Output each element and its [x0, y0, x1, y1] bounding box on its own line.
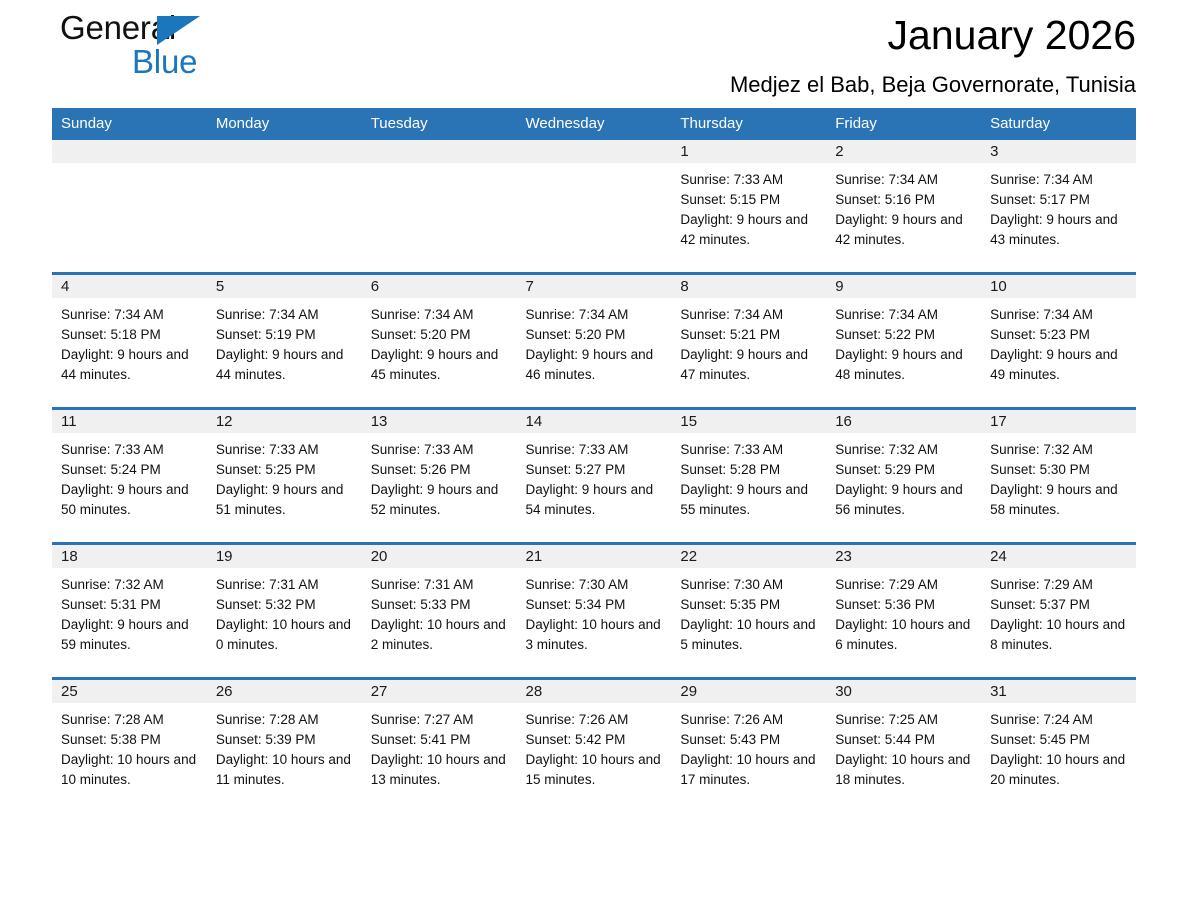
page-title: January 2026 [730, 8, 1136, 62]
sunrise-text: Sunrise: 7:34 AM [835, 305, 975, 325]
sunset-text: Sunset: 5:24 PM [61, 460, 201, 480]
day-number: 29 [671, 680, 826, 703]
sunrise-text: Sunrise: 7:28 AM [216, 710, 356, 730]
sunrise-text: Sunrise: 7:34 AM [990, 305, 1130, 325]
daylight-text: Daylight: 10 hours and 0 minutes. [216, 615, 356, 655]
day-details: Sunrise: 7:32 AMSunset: 5:29 PMDaylight:… [826, 433, 981, 520]
sunset-text: Sunset: 5:33 PM [371, 595, 511, 615]
calendar-day-cell[interactable]: 1Sunrise: 7:33 AMSunset: 5:15 PMDaylight… [671, 140, 826, 274]
weekday-header-sunday: Sunday [52, 108, 207, 140]
sunrise-text: Sunrise: 7:30 AM [526, 575, 666, 595]
sunset-text: Sunset: 5:39 PM [216, 730, 356, 750]
sunset-text: Sunset: 5:17 PM [990, 190, 1130, 210]
day-cell-inner: 6Sunrise: 7:34 AMSunset: 5:20 PMDaylight… [362, 275, 517, 407]
sunrise-text: Sunrise: 7:25 AM [835, 710, 975, 730]
sunset-text: Sunset: 5:20 PM [371, 325, 511, 345]
day-number: 4 [52, 275, 207, 298]
daylight-text: Daylight: 10 hours and 6 minutes. [835, 615, 975, 655]
calendar-day-cell[interactable]: 31Sunrise: 7:24 AMSunset: 5:45 PMDayligh… [981, 679, 1136, 813]
day-details: Sunrise: 7:31 AMSunset: 5:32 PMDaylight:… [207, 568, 362, 655]
day-cell-inner: 30Sunrise: 7:25 AMSunset: 5:44 PMDayligh… [826, 680, 981, 812]
sunrise-text: Sunrise: 7:34 AM [835, 170, 975, 190]
day-cell-inner: 19Sunrise: 7:31 AMSunset: 5:32 PMDayligh… [207, 545, 362, 677]
daylight-text: Daylight: 10 hours and 10 minutes. [61, 750, 201, 790]
day-details: Sunrise: 7:26 AMSunset: 5:42 PMDaylight:… [517, 703, 672, 790]
calendar-page: General Blue January 2026 Medjez el Bab,… [0, 0, 1188, 918]
day-number [362, 140, 517, 163]
calendar-day-cell[interactable]: 19Sunrise: 7:31 AMSunset: 5:32 PMDayligh… [207, 544, 362, 679]
day-number: 15 [671, 410, 826, 433]
day-cell-inner: 15Sunrise: 7:33 AMSunset: 5:28 PMDayligh… [671, 410, 826, 542]
day-cell-inner: 10Sunrise: 7:34 AMSunset: 5:23 PMDayligh… [981, 275, 1136, 407]
day-cell-inner: 26Sunrise: 7:28 AMSunset: 5:39 PMDayligh… [207, 680, 362, 812]
daylight-text: Daylight: 9 hours and 50 minutes. [61, 480, 201, 520]
day-cell-inner: 16Sunrise: 7:32 AMSunset: 5:29 PMDayligh… [826, 410, 981, 542]
daylight-text: Daylight: 10 hours and 2 minutes. [371, 615, 511, 655]
sunrise-text: Sunrise: 7:34 AM [680, 305, 820, 325]
day-details: Sunrise: 7:29 AMSunset: 5:36 PMDaylight:… [826, 568, 981, 655]
sunset-text: Sunset: 5:31 PM [61, 595, 201, 615]
day-number: 5 [207, 275, 362, 298]
calendar-day-cell[interactable]: 3Sunrise: 7:34 AMSunset: 5:17 PMDaylight… [981, 140, 1136, 274]
daylight-text: Daylight: 9 hours and 48 minutes. [835, 345, 975, 385]
calendar-week-row: 11Sunrise: 7:33 AMSunset: 5:24 PMDayligh… [52, 409, 1136, 544]
weekday-header-saturday: Saturday [981, 108, 1136, 140]
sunrise-text: Sunrise: 7:33 AM [216, 440, 356, 460]
day-cell-inner: 22Sunrise: 7:30 AMSunset: 5:35 PMDayligh… [671, 545, 826, 677]
sunset-text: Sunset: 5:26 PM [371, 460, 511, 480]
day-details: Sunrise: 7:34 AMSunset: 5:16 PMDaylight:… [826, 163, 981, 250]
day-details: Sunrise: 7:33 AMSunset: 5:27 PMDaylight:… [517, 433, 672, 520]
calendar-day-cell[interactable]: 23Sunrise: 7:29 AMSunset: 5:36 PMDayligh… [826, 544, 981, 679]
day-cell-inner: 9Sunrise: 7:34 AMSunset: 5:22 PMDaylight… [826, 275, 981, 407]
day-details: Sunrise: 7:34 AMSunset: 5:17 PMDaylight:… [981, 163, 1136, 250]
day-number: 7 [517, 275, 672, 298]
sunset-text: Sunset: 5:44 PM [835, 730, 975, 750]
daylight-text: Daylight: 10 hours and 15 minutes. [526, 750, 666, 790]
daylight-text: Daylight: 10 hours and 13 minutes. [371, 750, 511, 790]
day-number: 26 [207, 680, 362, 703]
day-number: 19 [207, 545, 362, 568]
sunrise-text: Sunrise: 7:31 AM [216, 575, 356, 595]
day-details: Sunrise: 7:31 AMSunset: 5:33 PMDaylight:… [362, 568, 517, 655]
calendar-day-cell[interactable]: 25Sunrise: 7:28 AMSunset: 5:38 PMDayligh… [52, 679, 207, 813]
calendar-day-cell[interactable]: 30Sunrise: 7:25 AMSunset: 5:44 PMDayligh… [826, 679, 981, 813]
calendar-day-cell[interactable]: 4Sunrise: 7:34 AMSunset: 5:18 PMDaylight… [52, 274, 207, 409]
calendar-day-cell [517, 140, 672, 274]
calendar-day-cell[interactable]: 13Sunrise: 7:33 AMSunset: 5:26 PMDayligh… [362, 409, 517, 544]
day-number: 13 [362, 410, 517, 433]
sunset-text: Sunset: 5:23 PM [990, 325, 1130, 345]
day-number: 8 [671, 275, 826, 298]
day-details: Sunrise: 7:28 AMSunset: 5:39 PMDaylight:… [207, 703, 362, 790]
sunrise-text: Sunrise: 7:34 AM [990, 170, 1130, 190]
sunset-text: Sunset: 5:25 PM [216, 460, 356, 480]
day-cell-inner: 14Sunrise: 7:33 AMSunset: 5:27 PMDayligh… [517, 410, 672, 542]
day-number: 28 [517, 680, 672, 703]
sunrise-text: Sunrise: 7:29 AM [835, 575, 975, 595]
sunset-text: Sunset: 5:21 PM [680, 325, 820, 345]
sunset-text: Sunset: 5:18 PM [61, 325, 201, 345]
day-number: 1 [671, 140, 826, 163]
sunset-text: Sunset: 5:30 PM [990, 460, 1130, 480]
calendar-day-cell[interactable]: 7Sunrise: 7:34 AMSunset: 5:20 PMDaylight… [517, 274, 672, 409]
day-details: Sunrise: 7:30 AMSunset: 5:35 PMDaylight:… [671, 568, 826, 655]
sunset-text: Sunset: 5:15 PM [680, 190, 820, 210]
daylight-text: Daylight: 9 hours and 42 minutes. [835, 210, 975, 250]
day-number [517, 140, 672, 163]
day-cell-inner: 7Sunrise: 7:34 AMSunset: 5:20 PMDaylight… [517, 275, 672, 407]
daylight-text: Daylight: 9 hours and 55 minutes. [680, 480, 820, 520]
calendar-day-cell[interactable]: 29Sunrise: 7:26 AMSunset: 5:43 PMDayligh… [671, 679, 826, 813]
calendar-header-row: Sunday Monday Tuesday Wednesday Thursday… [52, 108, 1136, 140]
daylight-text: Daylight: 10 hours and 8 minutes. [990, 615, 1130, 655]
calendar-day-cell[interactable]: 2Sunrise: 7:34 AMSunset: 5:16 PMDaylight… [826, 140, 981, 274]
day-details: Sunrise: 7:33 AMSunset: 5:15 PMDaylight:… [671, 163, 826, 250]
day-details: Sunrise: 7:28 AMSunset: 5:38 PMDaylight:… [52, 703, 207, 790]
calendar-week-row: 18Sunrise: 7:32 AMSunset: 5:31 PMDayligh… [52, 544, 1136, 679]
sunset-text: Sunset: 5:43 PM [680, 730, 820, 750]
day-cell-inner: 29Sunrise: 7:26 AMSunset: 5:43 PMDayligh… [671, 680, 826, 812]
daylight-text: Daylight: 9 hours and 49 minutes. [990, 345, 1130, 385]
day-number: 10 [981, 275, 1136, 298]
calendar-day-cell[interactable]: 21Sunrise: 7:30 AMSunset: 5:34 PMDayligh… [517, 544, 672, 679]
day-cell-inner: 27Sunrise: 7:27 AMSunset: 5:41 PMDayligh… [362, 680, 517, 812]
daylight-text: Daylight: 9 hours and 42 minutes. [680, 210, 820, 250]
general-blue-logo[interactable]: General Blue [60, 10, 320, 90]
calendar-day-cell[interactable]: 26Sunrise: 7:28 AMSunset: 5:39 PMDayligh… [207, 679, 362, 813]
sunrise-text: Sunrise: 7:30 AM [680, 575, 820, 595]
sunset-text: Sunset: 5:41 PM [371, 730, 511, 750]
daylight-text: Daylight: 9 hours and 58 minutes. [990, 480, 1130, 520]
day-number [207, 140, 362, 163]
calendar-day-cell [362, 140, 517, 274]
location-subtitle: Medjez el Bab, Beja Governorate, Tunisia [730, 70, 1136, 100]
sunset-text: Sunset: 5:34 PM [526, 595, 666, 615]
daylight-text: Daylight: 9 hours and 47 minutes. [680, 345, 820, 385]
calendar-day-cell[interactable]: 14Sunrise: 7:33 AMSunset: 5:27 PMDayligh… [517, 409, 672, 544]
weekday-header-thursday: Thursday [671, 108, 826, 140]
sunset-text: Sunset: 5:36 PM [835, 595, 975, 615]
day-details: Sunrise: 7:34 AMSunset: 5:22 PMDaylight:… [826, 298, 981, 385]
day-details: Sunrise: 7:32 AMSunset: 5:31 PMDaylight:… [52, 568, 207, 655]
day-details: Sunrise: 7:29 AMSunset: 5:37 PMDaylight:… [981, 568, 1136, 655]
sunrise-text: Sunrise: 7:32 AM [61, 575, 201, 595]
calendar-day-cell[interactable]: 5Sunrise: 7:34 AMSunset: 5:19 PMDaylight… [207, 274, 362, 409]
calendar-day-cell[interactable]: 12Sunrise: 7:33 AMSunset: 5:25 PMDayligh… [207, 409, 362, 544]
weekday-header-friday: Friday [826, 108, 981, 140]
day-details: Sunrise: 7:33 AMSunset: 5:25 PMDaylight:… [207, 433, 362, 520]
day-number: 27 [362, 680, 517, 703]
daylight-text: Daylight: 10 hours and 11 minutes. [216, 750, 356, 790]
sunrise-text: Sunrise: 7:27 AM [371, 710, 511, 730]
day-number [52, 140, 207, 163]
calendar-day-cell [207, 140, 362, 274]
sunrise-text: Sunrise: 7:26 AM [526, 710, 666, 730]
weekday-header-wednesday: Wednesday [517, 108, 672, 140]
day-cell-inner: 1Sunrise: 7:33 AMSunset: 5:15 PMDaylight… [671, 140, 826, 272]
sunrise-text: Sunrise: 7:29 AM [990, 575, 1130, 595]
day-number: 31 [981, 680, 1136, 703]
sunset-text: Sunset: 5:19 PM [216, 325, 356, 345]
sunrise-text: Sunrise: 7:24 AM [990, 710, 1130, 730]
sunrise-text: Sunrise: 7:33 AM [61, 440, 201, 460]
calendar-day-cell[interactable]: 20Sunrise: 7:31 AMSunset: 5:33 PMDayligh… [362, 544, 517, 679]
calendar-day-cell[interactable]: 16Sunrise: 7:32 AMSunset: 5:29 PMDayligh… [826, 409, 981, 544]
brand-name-blue: Blue [132, 44, 320, 80]
day-number: 20 [362, 545, 517, 568]
day-number: 18 [52, 545, 207, 568]
day-cell-inner: 11Sunrise: 7:33 AMSunset: 5:24 PMDayligh… [52, 410, 207, 542]
calendar-day-cell[interactable]: 18Sunrise: 7:32 AMSunset: 5:31 PMDayligh… [52, 544, 207, 679]
sunset-text: Sunset: 5:42 PM [526, 730, 666, 750]
day-details: Sunrise: 7:33 AMSunset: 5:26 PMDaylight:… [362, 433, 517, 520]
day-number: 14 [517, 410, 672, 433]
sunrise-text: Sunrise: 7:33 AM [680, 170, 820, 190]
day-number: 25 [52, 680, 207, 703]
day-number: 11 [52, 410, 207, 433]
day-cell-inner: 13Sunrise: 7:33 AMSunset: 5:26 PMDayligh… [362, 410, 517, 542]
day-number: 9 [826, 275, 981, 298]
calendar-day-cell[interactable]: 22Sunrise: 7:30 AMSunset: 5:35 PMDayligh… [671, 544, 826, 679]
sunrise-text: Sunrise: 7:34 AM [61, 305, 201, 325]
day-number: 24 [981, 545, 1136, 568]
day-cell-inner: 25Sunrise: 7:28 AMSunset: 5:38 PMDayligh… [52, 680, 207, 812]
daylight-text: Daylight: 10 hours and 17 minutes. [680, 750, 820, 790]
day-cell-inner: 18Sunrise: 7:32 AMSunset: 5:31 PMDayligh… [52, 545, 207, 677]
day-number: 12 [207, 410, 362, 433]
day-cell-inner: 2Sunrise: 7:34 AMSunset: 5:16 PMDaylight… [826, 140, 981, 272]
page-header: General Blue January 2026 Medjez el Bab,… [52, 0, 1136, 108]
calendar-day-cell[interactable]: 8Sunrise: 7:34 AMSunset: 5:21 PMDaylight… [671, 274, 826, 409]
day-cell-inner: 5Sunrise: 7:34 AMSunset: 5:19 PMDaylight… [207, 275, 362, 407]
daylight-text: Daylight: 9 hours and 45 minutes. [371, 345, 511, 385]
calendar-body: 1Sunrise: 7:33 AMSunset: 5:15 PMDaylight… [52, 140, 1136, 812]
day-details: Sunrise: 7:34 AMSunset: 5:19 PMDaylight:… [207, 298, 362, 385]
sunset-text: Sunset: 5:38 PM [61, 730, 201, 750]
calendar-week-row: 25Sunrise: 7:28 AMSunset: 5:38 PMDayligh… [52, 679, 1136, 813]
calendar-day-cell[interactable]: 17Sunrise: 7:32 AMSunset: 5:30 PMDayligh… [981, 409, 1136, 544]
calendar-day-cell [52, 140, 207, 274]
sunrise-text: Sunrise: 7:34 AM [526, 305, 666, 325]
day-cell-inner [52, 140, 207, 272]
daylight-text: Daylight: 10 hours and 5 minutes. [680, 615, 820, 655]
daylight-text: Daylight: 9 hours and 51 minutes. [216, 480, 356, 520]
daylight-text: Daylight: 9 hours and 46 minutes. [526, 345, 666, 385]
daylight-text: Daylight: 9 hours and 44 minutes. [61, 345, 201, 385]
daylight-text: Daylight: 9 hours and 43 minutes. [990, 210, 1130, 250]
weekday-header-monday: Monday [207, 108, 362, 140]
day-number: 2 [826, 140, 981, 163]
sunset-text: Sunset: 5:29 PM [835, 460, 975, 480]
day-cell-inner: 21Sunrise: 7:30 AMSunset: 5:34 PMDayligh… [517, 545, 672, 677]
sunrise-text: Sunrise: 7:34 AM [216, 305, 356, 325]
sunrise-sunset-calendar: Sunday Monday Tuesday Wednesday Thursday… [52, 108, 1136, 812]
day-number: 21 [517, 545, 672, 568]
day-number: 16 [826, 410, 981, 433]
day-details: Sunrise: 7:26 AMSunset: 5:43 PMDaylight:… [671, 703, 826, 790]
daylight-text: Daylight: 10 hours and 18 minutes. [835, 750, 975, 790]
day-details: Sunrise: 7:34 AMSunset: 5:21 PMDaylight:… [671, 298, 826, 385]
day-cell-inner [207, 140, 362, 272]
sunset-text: Sunset: 5:35 PM [680, 595, 820, 615]
sunset-text: Sunset: 5:37 PM [990, 595, 1130, 615]
sunset-text: Sunset: 5:32 PM [216, 595, 356, 615]
calendar-day-cell[interactable]: 28Sunrise: 7:26 AMSunset: 5:42 PMDayligh… [517, 679, 672, 813]
day-cell-inner: 24Sunrise: 7:29 AMSunset: 5:37 PMDayligh… [981, 545, 1136, 677]
day-number: 23 [826, 545, 981, 568]
sunset-text: Sunset: 5:20 PM [526, 325, 666, 345]
daylight-text: Daylight: 9 hours and 44 minutes. [216, 345, 356, 385]
day-number: 22 [671, 545, 826, 568]
sunrise-text: Sunrise: 7:33 AM [680, 440, 820, 460]
day-details: Sunrise: 7:34 AMSunset: 5:20 PMDaylight:… [517, 298, 672, 385]
daylight-text: Daylight: 10 hours and 20 minutes. [990, 750, 1130, 790]
sunrise-text: Sunrise: 7:34 AM [371, 305, 511, 325]
calendar-day-cell[interactable]: 15Sunrise: 7:33 AMSunset: 5:28 PMDayligh… [671, 409, 826, 544]
day-number: 17 [981, 410, 1136, 433]
calendar-day-cell[interactable]: 9Sunrise: 7:34 AMSunset: 5:22 PMDaylight… [826, 274, 981, 409]
day-cell-inner: 23Sunrise: 7:29 AMSunset: 5:36 PMDayligh… [826, 545, 981, 677]
daylight-text: Daylight: 9 hours and 54 minutes. [526, 480, 666, 520]
day-cell-inner: 20Sunrise: 7:31 AMSunset: 5:33 PMDayligh… [362, 545, 517, 677]
day-cell-inner: 4Sunrise: 7:34 AMSunset: 5:18 PMDaylight… [52, 275, 207, 407]
daylight-text: Daylight: 10 hours and 3 minutes. [526, 615, 666, 655]
day-number: 30 [826, 680, 981, 703]
title-block: January 2026 Medjez el Bab, Beja Governo… [730, 0, 1136, 100]
sunset-text: Sunset: 5:28 PM [680, 460, 820, 480]
sunrise-text: Sunrise: 7:32 AM [835, 440, 975, 460]
day-details: Sunrise: 7:33 AMSunset: 5:24 PMDaylight:… [52, 433, 207, 520]
calendar-day-cell[interactable]: 11Sunrise: 7:33 AMSunset: 5:24 PMDayligh… [52, 409, 207, 544]
sunset-text: Sunset: 5:22 PM [835, 325, 975, 345]
day-details: Sunrise: 7:33 AMSunset: 5:28 PMDaylight:… [671, 433, 826, 520]
sunrise-text: Sunrise: 7:32 AM [990, 440, 1130, 460]
calendar-day-cell[interactable]: 10Sunrise: 7:34 AMSunset: 5:23 PMDayligh… [981, 274, 1136, 409]
calendar-week-row: 1Sunrise: 7:33 AMSunset: 5:15 PMDaylight… [52, 140, 1136, 274]
sunset-text: Sunset: 5:27 PM [526, 460, 666, 480]
day-number: 3 [981, 140, 1136, 163]
day-cell-inner: 28Sunrise: 7:26 AMSunset: 5:42 PMDayligh… [517, 680, 672, 812]
day-details: Sunrise: 7:25 AMSunset: 5:44 PMDaylight:… [826, 703, 981, 790]
weekday-header-tuesday: Tuesday [362, 108, 517, 140]
calendar-day-cell[interactable]: 6Sunrise: 7:34 AMSunset: 5:20 PMDaylight… [362, 274, 517, 409]
sunrise-text: Sunrise: 7:28 AM [61, 710, 201, 730]
day-details: Sunrise: 7:24 AMSunset: 5:45 PMDaylight:… [981, 703, 1136, 790]
sunrise-text: Sunrise: 7:33 AM [526, 440, 666, 460]
day-cell-inner: 3Sunrise: 7:34 AMSunset: 5:17 PMDaylight… [981, 140, 1136, 272]
blue-triangle-icon [157, 16, 200, 45]
sunset-text: Sunset: 5:16 PM [835, 190, 975, 210]
sunrise-text: Sunrise: 7:31 AM [371, 575, 511, 595]
day-details: Sunrise: 7:34 AMSunset: 5:23 PMDaylight:… [981, 298, 1136, 385]
daylight-text: Daylight: 9 hours and 56 minutes. [835, 480, 975, 520]
day-cell-inner: 17Sunrise: 7:32 AMSunset: 5:30 PMDayligh… [981, 410, 1136, 542]
sunset-text: Sunset: 5:45 PM [990, 730, 1130, 750]
sunrise-text: Sunrise: 7:33 AM [371, 440, 511, 460]
calendar-week-row: 4Sunrise: 7:34 AMSunset: 5:18 PMDaylight… [52, 274, 1136, 409]
sunrise-text: Sunrise: 7:26 AM [680, 710, 820, 730]
day-details: Sunrise: 7:27 AMSunset: 5:41 PMDaylight:… [362, 703, 517, 790]
day-number: 6 [362, 275, 517, 298]
day-cell-inner [517, 140, 672, 272]
day-cell-inner [362, 140, 517, 272]
calendar-day-cell[interactable]: 24Sunrise: 7:29 AMSunset: 5:37 PMDayligh… [981, 544, 1136, 679]
daylight-text: Daylight: 9 hours and 52 minutes. [371, 480, 511, 520]
day-cell-inner: 8Sunrise: 7:34 AMSunset: 5:21 PMDaylight… [671, 275, 826, 407]
day-details: Sunrise: 7:34 AMSunset: 5:20 PMDaylight:… [362, 298, 517, 385]
calendar-day-cell[interactable]: 27Sunrise: 7:27 AMSunset: 5:41 PMDayligh… [362, 679, 517, 813]
daylight-text: Daylight: 9 hours and 59 minutes. [61, 615, 201, 655]
day-cell-inner: 12Sunrise: 7:33 AMSunset: 5:25 PMDayligh… [207, 410, 362, 542]
day-details: Sunrise: 7:32 AMSunset: 5:30 PMDaylight:… [981, 433, 1136, 520]
day-details: Sunrise: 7:34 AMSunset: 5:18 PMDaylight:… [52, 298, 207, 385]
day-details: Sunrise: 7:30 AMSunset: 5:34 PMDaylight:… [517, 568, 672, 655]
day-cell-inner: 31Sunrise: 7:24 AMSunset: 5:45 PMDayligh… [981, 680, 1136, 812]
